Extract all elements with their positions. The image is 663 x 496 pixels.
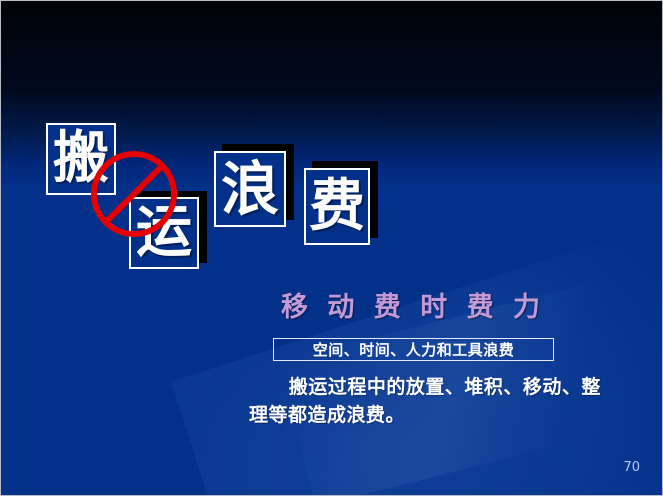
title-card-lang: 浪 [214,151,286,227]
headline-text: 移 动 费 时 费 力 [263,294,563,322]
title-card-yun: 运 [129,197,199,269]
body-paragraph: 搬运过程中的放置、堆积、移动、整理等都造成浪费。 [249,374,614,429]
title-card-fei: 费 [304,168,370,245]
subtitle-box: 空间、时间、人力和工具浪费 [273,338,554,361]
page-number: 70 [623,460,640,475]
subtitle-text: 空间、时间、人力和工具浪费 [313,339,515,360]
slide-canvas: 搬 运 浪 费 移 动 费 时 费 力 空间、时间、人力和工具浪费 搬运过程中的… [0,0,663,496]
title-card-ban: 搬 [46,123,116,195]
